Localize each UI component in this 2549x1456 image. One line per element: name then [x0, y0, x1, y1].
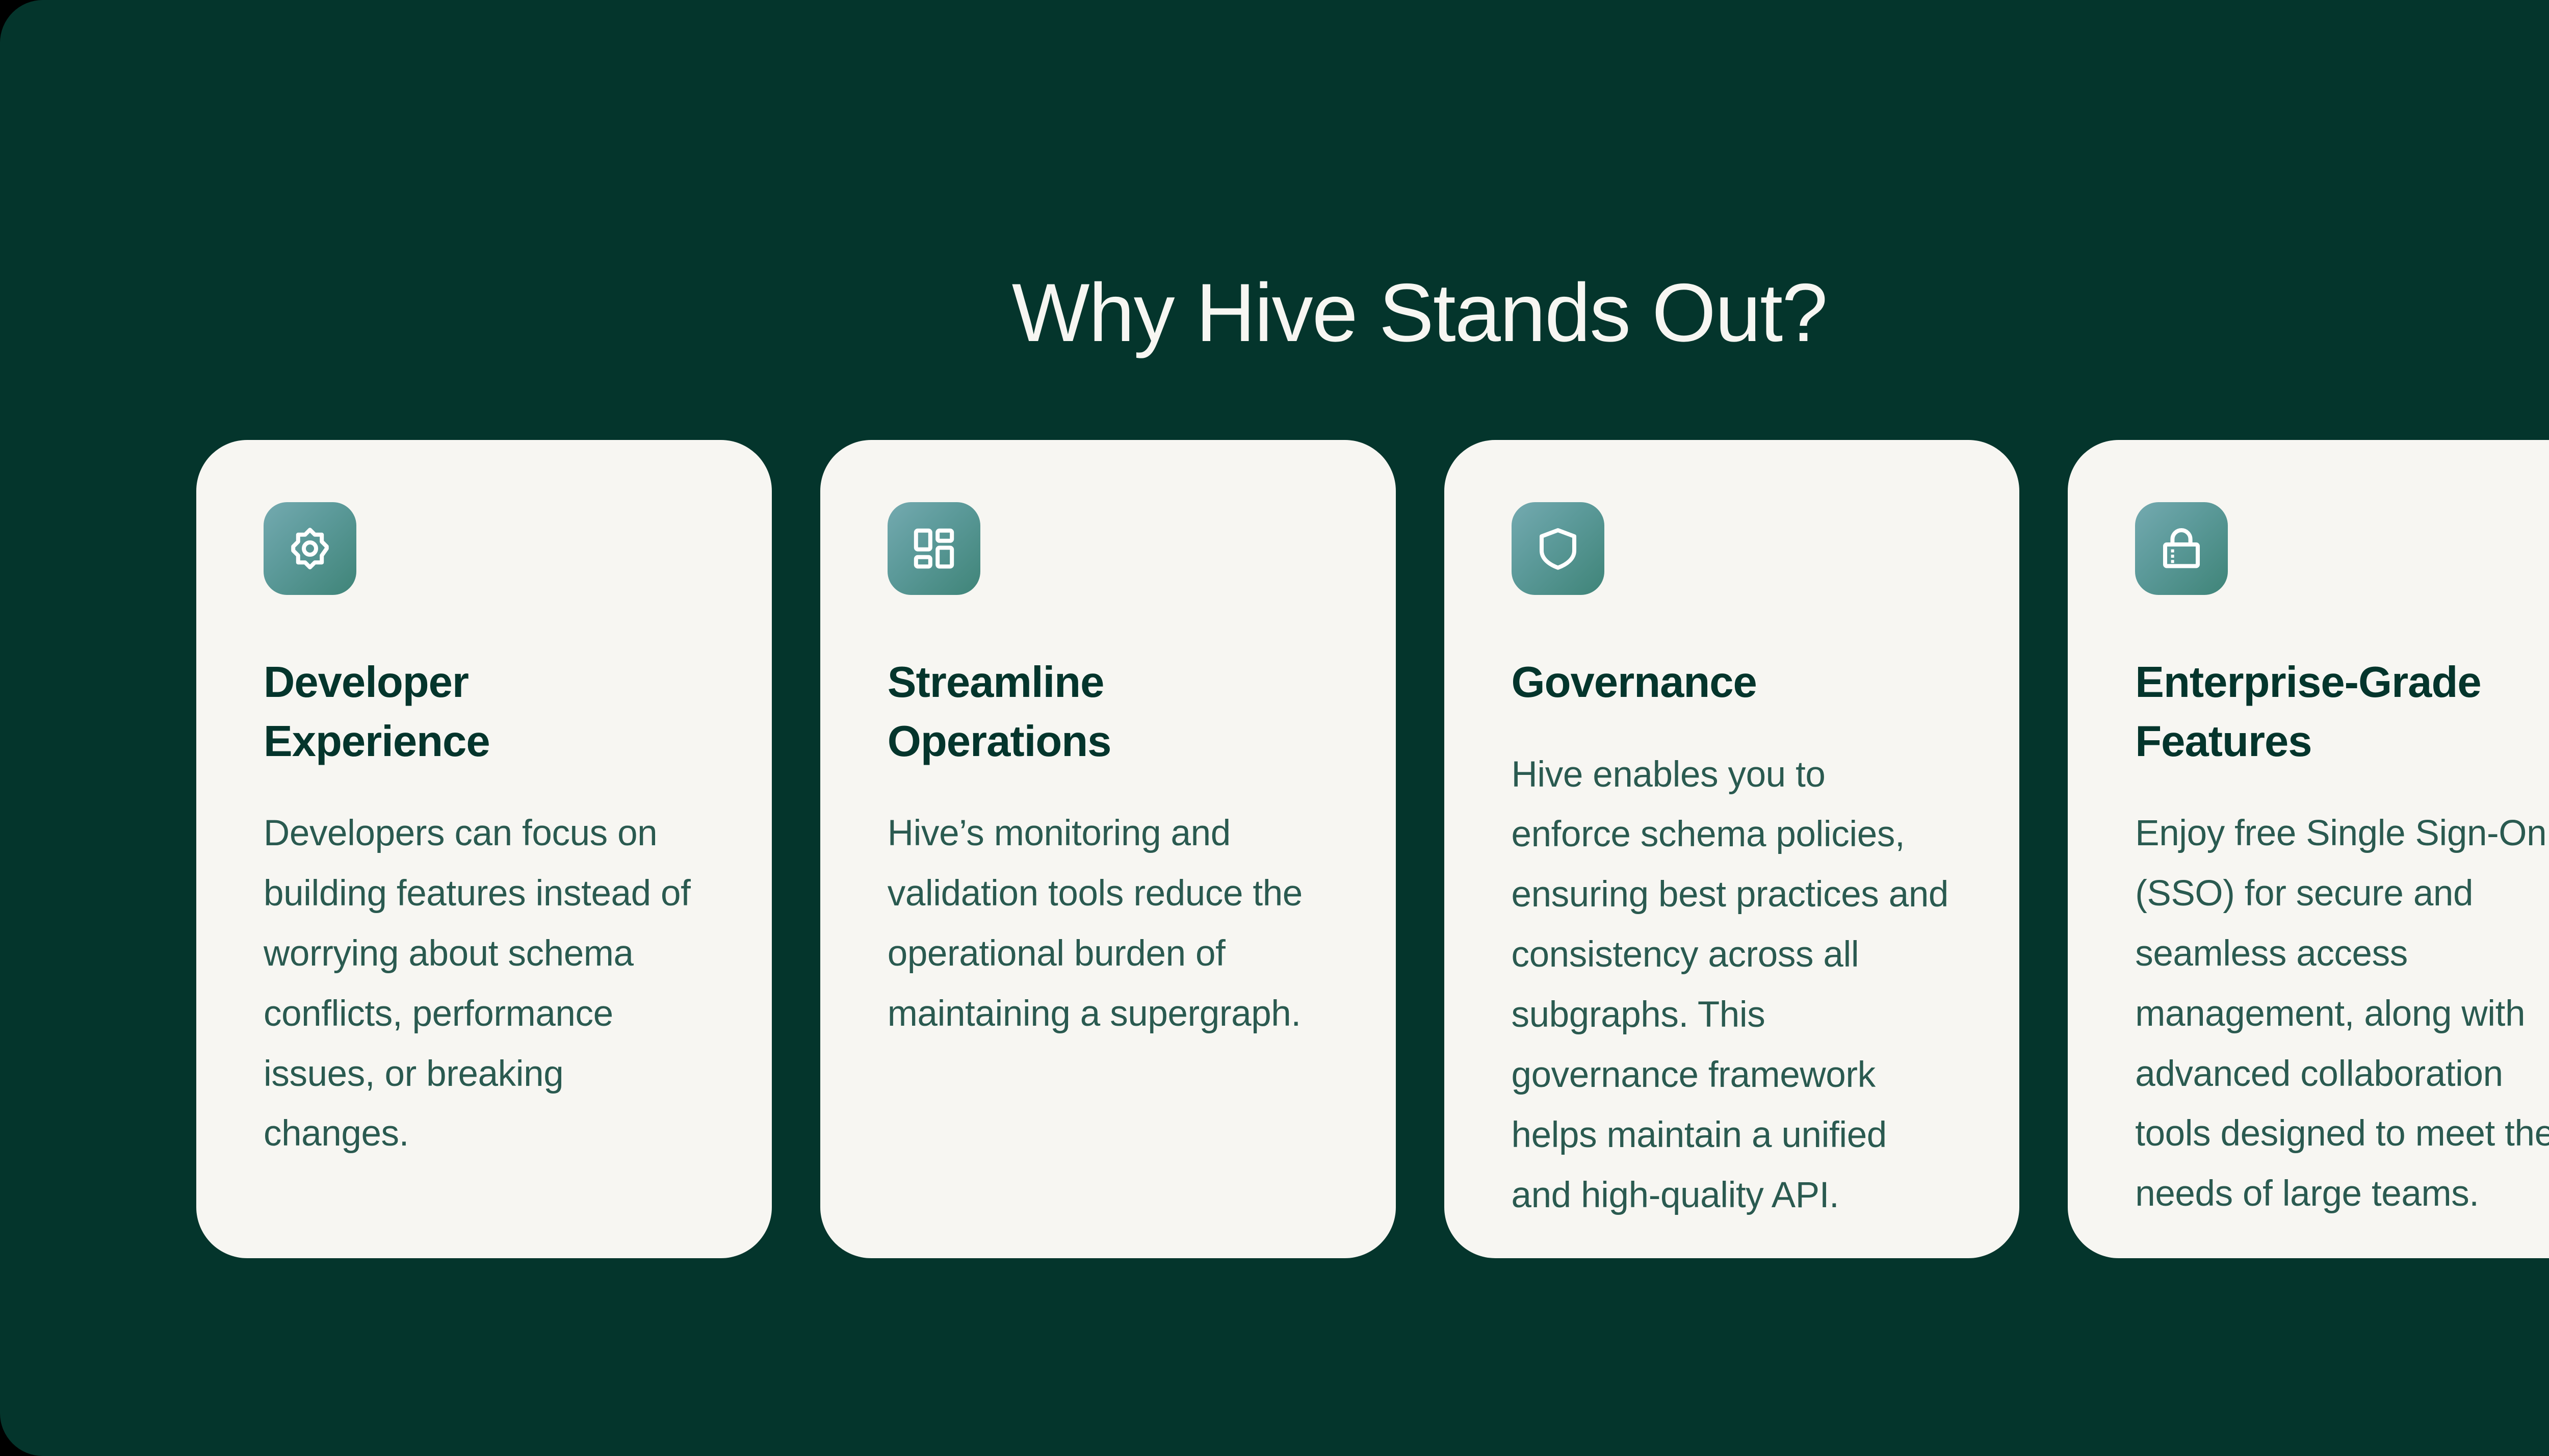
feature-card-title: Enterprise-Grade Features — [2135, 653, 2549, 771]
feature-card[interactable]: Enterprise-Grade Features Enjoy free Sin… — [2068, 440, 2549, 1258]
feature-card[interactable]: Streamline Operations Hive’s monitoring … — [820, 440, 1396, 1258]
feature-card-body: Enjoy free Single Sign-On (SSO) for secu… — [2135, 803, 2549, 1224]
feature-card[interactable]: Governance Hive enables you to enforce s… — [1444, 440, 2020, 1258]
page-title: Why Hive Stands Out? — [0, 264, 2549, 361]
gear-icon — [264, 502, 356, 595]
feature-card-body: Hive’s monitoring and validation tools r… — [888, 803, 1329, 1044]
feature-card-body: Hive enables you to enforce schema polic… — [1512, 745, 1953, 1226]
shield-icon — [1512, 502, 1604, 595]
lock-icon — [2135, 502, 2228, 595]
feature-section: Why Hive Stands Out? Developer Experienc… — [0, 0, 2549, 1456]
feature-card[interactable]: Developer Experience Developers can focu… — [196, 440, 772, 1258]
feature-card-title: Streamline Operations — [888, 653, 1329, 771]
feature-card-list: Developer Experience Developers can focu… — [196, 440, 2549, 1258]
dashboard-grid-icon — [888, 502, 980, 595]
feature-card-title: Governance — [1512, 653, 1757, 712]
feature-card-title: Developer Experience — [264, 653, 705, 771]
feature-card-body: Developers can focus on building feature… — [264, 803, 705, 1164]
